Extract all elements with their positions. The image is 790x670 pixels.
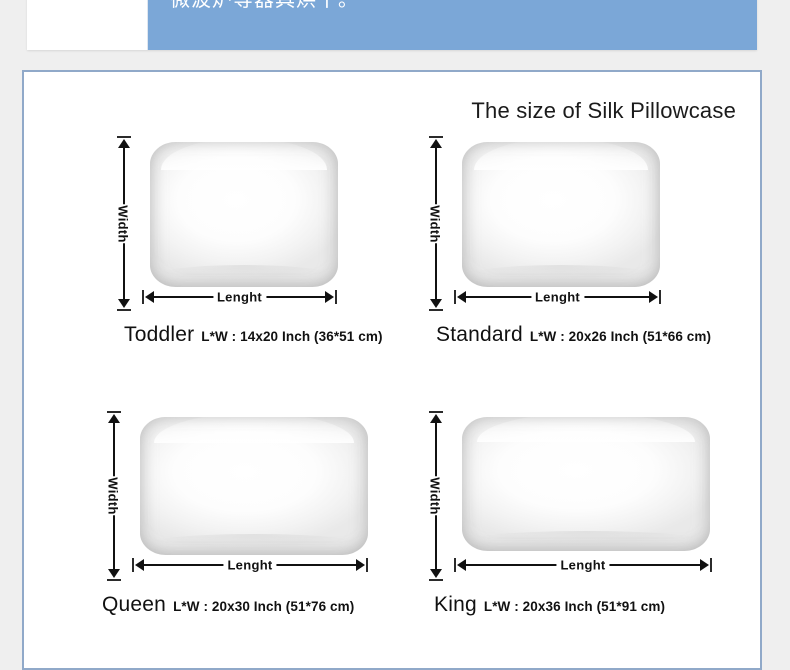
length-arrow-cap-left (454, 558, 456, 572)
width-dimension-arrow: Width (424, 136, 446, 311)
pillow-size-dimensions: L*W : 20x36 Inch (51*91 cm) (484, 599, 665, 614)
length-dimension-label: Lenght (556, 558, 609, 573)
width-arrow-cap-top (429, 411, 443, 413)
pillow-illustration-king (462, 417, 710, 551)
length-dimension-label: Lenght (213, 290, 266, 305)
length-arrow-cap-right (366, 558, 368, 572)
width-arrow-head-up (430, 414, 442, 423)
pillow-card-standard: Width Lenght StandardL*W : 20x26 Inch (5… (392, 130, 760, 347)
pillow-size-dimensions: L*W : 20x30 Inch (51*76 cm) (173, 599, 354, 614)
pillow-card-queen: Width Lenght QueenL*W : 20x30 Inch (51*7… (24, 347, 392, 617)
width-arrow-head-up (108, 414, 120, 423)
page-title: The size of Silk Pillowcase (471, 98, 736, 124)
length-arrow-cap-left (142, 290, 144, 304)
width-arrow-head-down (118, 299, 130, 308)
width-arrow-cap-bottom (429, 579, 443, 581)
length-arrow-cap-left (454, 290, 456, 304)
length-arrow-head-right (700, 559, 709, 571)
width-arrow-cap-bottom (429, 309, 443, 311)
pillow-size-dimensions: L*W : 14x20 Inch (36*51 cm) (201, 329, 382, 344)
length-arrow-cap-right (335, 290, 337, 304)
length-arrow-cap-left (132, 558, 134, 572)
width-dimension-arrow: Width (102, 411, 124, 581)
width-dimension-arrow: Width (424, 411, 446, 581)
length-arrow-head-left (145, 291, 154, 303)
width-arrow-head-down (430, 299, 442, 308)
pillow-caption-king: KingL*W : 20x36 Inch (51*91 cm) (434, 593, 760, 617)
width-dimension-arrow: Width (112, 136, 134, 311)
width-arrow-cap-top (117, 136, 131, 138)
pillow-size-name: Queen (102, 593, 166, 616)
pillow-caption-standard: StandardL*W : 20x26 Inch (51*66 cm) (436, 323, 760, 347)
pillow-size-name: Toddler (124, 323, 194, 346)
pillow-illustration-toddler (150, 142, 338, 287)
width-dimension-label: Width (426, 204, 445, 243)
width-dimension-label: Width (114, 204, 133, 243)
width-dimension-label: Width (426, 476, 445, 515)
width-arrow-cap-bottom (107, 579, 121, 581)
pillow-illustration-standard (462, 142, 660, 287)
length-dimension-arrow: Lenght (132, 555, 368, 575)
width-arrow-cap-top (107, 411, 121, 413)
length-dimension-arrow: Lenght (454, 287, 661, 307)
length-arrow-head-left (457, 291, 466, 303)
length-arrow-cap-right (659, 290, 661, 304)
length-dimension-label: Lenght (531, 290, 584, 305)
care-instruction-banner: 微波炉等器具烘干。 (0, 0, 790, 56)
banner-label-cell (27, 0, 148, 50)
width-arrow-head-up (118, 139, 130, 148)
pillow-card-toddler: Width Lenght ToddlerL*W : 14x20 Inch (36… (24, 130, 392, 347)
size-chart-panel: The size of Silk Pillowcase Width (22, 70, 762, 670)
pillow-caption-toddler: ToddlerL*W : 14x20 Inch (36*51 cm) (124, 323, 392, 347)
pillow-size-name: King (434, 593, 477, 616)
length-arrow-head-right (649, 291, 658, 303)
banner-row: 微波炉等器具烘干。 (27, 0, 757, 50)
width-arrow-cap-top (429, 136, 443, 138)
width-arrow-head-down (430, 569, 442, 578)
pillow-size-name: Standard (436, 323, 523, 346)
pillow-illustration-queen (140, 417, 368, 555)
length-arrow-head-left (457, 559, 466, 571)
length-arrow-cap-right (710, 558, 712, 572)
length-arrow-head-right (325, 291, 334, 303)
length-dimension-label: Lenght (223, 558, 276, 573)
pillow-size-dimensions: L*W : 20x26 Inch (51*66 cm) (530, 329, 711, 344)
pillow-card-king: Width Lenght KingL*W : 20x36 Inch (51*91… (392, 347, 760, 617)
length-arrow-head-right (356, 559, 365, 571)
width-dimension-label: Width (104, 476, 123, 515)
banner-text: 微波炉等器具烘干。 (170, 0, 359, 12)
length-arrow-head-left (135, 559, 144, 571)
banner-text-cell: 微波炉等器具烘干。 (148, 0, 757, 50)
width-arrow-cap-bottom (117, 309, 131, 311)
width-arrow-head-down (108, 569, 120, 578)
pillow-size-grid: Width Lenght ToddlerL*W : 14x20 Inch (36… (24, 130, 760, 617)
width-arrow-head-up (430, 139, 442, 148)
pillow-caption-queen: QueenL*W : 20x30 Inch (51*76 cm) (102, 593, 392, 617)
length-dimension-arrow: Lenght (142, 287, 337, 307)
length-dimension-arrow: Lenght (454, 555, 712, 575)
